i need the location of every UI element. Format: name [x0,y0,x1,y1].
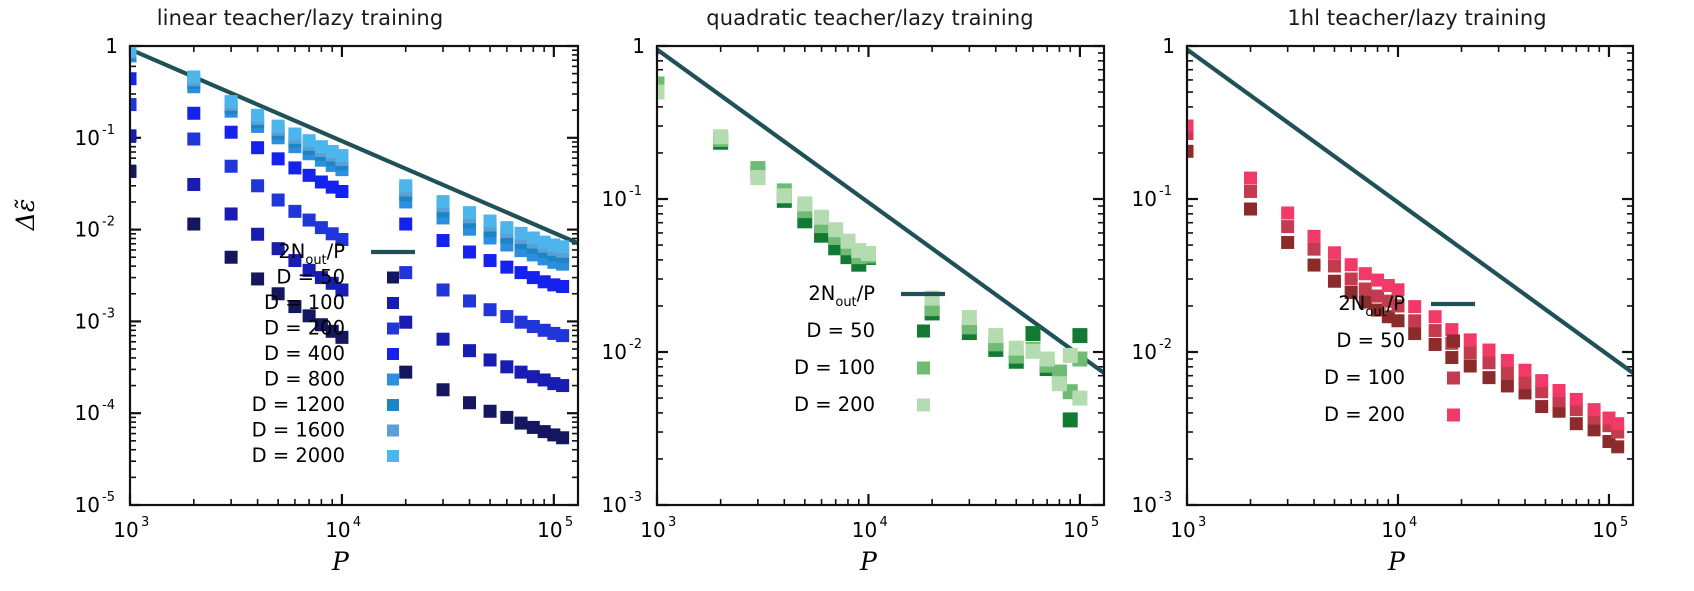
data-point [1588,403,1601,416]
plot-frame [657,46,1104,505]
legend-label: D = 50 [276,266,345,289]
data-point [187,133,200,146]
legend-label: D = 200 [1324,403,1405,426]
svg-text:-5: -5 [102,490,115,505]
data-point [1359,267,1372,280]
svg-text:10: 10 [75,493,100,517]
data-point [437,333,450,346]
legend-swatch [917,325,930,338]
data-point [251,109,264,122]
x-tick-label: 105 [1592,515,1628,542]
data-point [1429,324,1442,337]
data-point [251,141,264,154]
data-point [288,161,301,174]
data-point [463,344,476,357]
x-tick-label: 103 [113,515,149,542]
data-point [1482,371,1495,384]
svg-text:-2: -2 [102,215,115,230]
data-point [437,383,450,396]
svg-text:10: 10 [1132,187,1157,211]
data-point [1308,243,1321,256]
legend-swatch [387,374,399,386]
data-point [225,251,238,264]
data-point [1588,423,1601,436]
svg-text:3: 3 [668,515,676,530]
svg-text:10: 10 [602,187,627,211]
legend-swatch [1447,335,1460,348]
svg-text:10: 10 [113,518,138,542]
data-point [303,214,316,227]
legend-label: D = 400 [264,342,345,365]
data-point [556,379,569,392]
x-axis-label: P [860,547,877,576]
data-point [1025,344,1040,359]
y-tick-label: 10-1 [602,184,642,211]
legend-label: D = 50 [806,319,875,342]
data-point [1063,412,1078,427]
data-point [1501,354,1514,367]
data-point [515,316,528,329]
svg-text:10: 10 [1592,518,1617,542]
data-point [1244,185,1257,198]
data-point [1482,356,1495,369]
data-point [484,353,497,366]
data-point [1501,366,1514,379]
data-point [399,366,412,379]
data-point [1009,341,1024,356]
svg-text:-2: -2 [1159,337,1172,352]
x-axis-label: P [332,547,349,576]
data-point [1072,391,1087,406]
svg-text:-3: -3 [629,490,642,505]
data-point [962,310,977,325]
data-point [515,366,528,379]
y-tick-label: 1 [632,34,645,58]
svg-text:10: 10 [602,493,627,517]
legend-swatch [387,272,399,284]
y-tick-label: 10-2 [602,337,642,364]
data-point [335,149,348,162]
data-point [1345,258,1358,271]
data-point [1519,376,1532,389]
svg-text:5: 5 [1620,515,1628,530]
svg-text:10: 10 [75,218,100,242]
data-point [484,303,497,316]
svg-text:-3: -3 [102,306,115,321]
data-point [251,272,264,285]
data-point [463,294,476,307]
data-point [814,210,829,225]
svg-text:-1: -1 [102,123,115,138]
legend-swatch [387,323,399,335]
data-point [225,207,238,220]
data-point [288,205,301,218]
data-point [1281,220,1294,233]
data-point [288,128,301,141]
y-tick-label: 10-3 [602,490,642,517]
legend-label: D = 800 [264,368,345,391]
data-point [861,246,876,261]
data-point [272,152,285,165]
legend-label: D = 1600 [252,419,345,442]
data-point [463,396,476,409]
svg-text:10: 10 [640,518,665,542]
data-point [225,126,238,139]
data-point [515,266,528,279]
data-point [1519,364,1532,377]
data-point [777,188,792,203]
data-point [437,283,450,296]
data-point [556,329,569,342]
data-point [187,70,200,83]
data-point [437,234,450,247]
y-tick-label: 1 [1162,34,1175,58]
svg-text:5: 5 [565,515,573,530]
data-point [463,246,476,259]
svg-text:-2: -2 [629,337,642,352]
x-tick-label: 105 [1063,515,1099,542]
data-point [1464,346,1477,359]
data-point [1040,352,1055,367]
panel-plot-0: 110-110-210-310-410-51031041052Nout/PD =… [75,34,578,542]
data-point [399,218,412,231]
y-tick-label: 10-3 [1132,490,1172,517]
data-point [1281,207,1294,220]
data-point [1429,310,1442,323]
panel-plot-1: 110-110-210-31031041052Nout/PD = 50D = 1… [602,34,1104,542]
x-tick-label: 104 [1381,515,1417,542]
data-point [1391,314,1404,327]
legend-swatch [387,450,399,462]
x-axis-label: P [1388,547,1405,576]
data-point [1535,400,1548,413]
data-point [1281,236,1294,249]
data-point [515,227,528,240]
data-point [1464,360,1477,373]
svg-text:10: 10 [75,126,100,150]
svg-text:10: 10 [75,401,100,425]
data-point [1328,275,1341,288]
data-point [225,95,238,108]
svg-text:10: 10 [1381,518,1406,542]
data-point [272,120,285,133]
data-point [500,221,513,234]
svg-text:10: 10 [537,518,562,542]
data-point [1570,417,1583,430]
panel-plot-2: 110-110-210-31031041052Nout/PD = 50D = 1… [1132,34,1633,542]
data-point [515,417,528,430]
svg-text:10: 10 [1132,493,1157,517]
data-point [187,218,200,231]
data-point [1482,344,1495,357]
svg-text:10: 10 [325,518,350,542]
data-point [1429,338,1442,351]
data-point [225,160,238,173]
data-point [556,431,569,444]
svg-text:4: 4 [353,515,361,530]
data-point [272,194,285,207]
data-point [437,195,450,208]
svg-text:3: 3 [1198,515,1206,530]
svg-text:10: 10 [75,309,100,333]
legend-label: D = 100 [1324,366,1405,389]
svg-text:10: 10 [1170,518,1195,542]
data-point [1501,379,1514,392]
data-point [399,266,412,279]
y-tick-label: 10-1 [75,123,115,150]
legend-swatch [387,399,399,411]
data-point [1570,393,1583,406]
data-point [187,178,200,191]
data-point [463,206,476,219]
data-point [251,228,264,241]
data-point [335,185,348,198]
legend-label: D = 100 [794,356,875,379]
svg-text:5: 5 [1091,515,1099,530]
legend-swatch [917,399,930,412]
data-point [1345,273,1358,286]
data-point [1244,203,1257,216]
plot-canvas: 110-110-210-310-410-51031041052Nout/PD =… [0,0,1694,591]
data-point [1308,230,1321,243]
x-tick-label: 105 [537,515,573,542]
data-point [303,169,316,182]
legend-swatch [1447,372,1460,385]
legend-label: D = 2000 [252,444,345,467]
data-point [1464,333,1477,346]
data-point [1535,385,1548,398]
legend-swatch [387,425,399,437]
y-tick-label: 1 [105,34,118,58]
data-point [1244,172,1257,185]
data-point [1072,328,1087,343]
y-tick-label: 10-2 [1132,337,1172,364]
plot-frame [1187,46,1633,505]
data-point [1328,259,1341,272]
svg-text:4: 4 [879,515,887,530]
data-point [1445,323,1458,336]
legend-swatch [387,348,399,360]
legend-label: D = 200 [264,317,345,340]
data-point [251,179,264,192]
data-point [1408,314,1421,327]
data-point [1063,348,1078,363]
x-tick-label: 103 [640,515,676,542]
data-point [556,240,569,253]
x-tick-label: 104 [852,515,888,542]
data-point [1445,351,1458,364]
data-point [399,179,412,192]
data-point [484,254,497,267]
data-point [750,170,765,185]
data-point [1408,327,1421,340]
data-point [1553,384,1566,397]
legend-swatch [1447,409,1460,422]
data-point [1611,417,1624,430]
data-point [713,129,728,144]
data-point [1611,440,1624,453]
data-point [484,405,497,418]
legend-label: D = 200 [794,393,875,416]
data-point [500,261,513,274]
y-tick-label: 10-1 [1132,184,1172,211]
data-point [484,215,497,228]
data-point [187,107,200,120]
data-point [500,310,513,323]
data-point [1025,326,1040,341]
data-point [1052,376,1067,391]
svg-text:4: 4 [1409,515,1417,530]
y-tick-label: 10-3 [75,306,115,333]
svg-text:10: 10 [1063,518,1088,542]
legend-swatch [387,297,399,309]
svg-text:-3: -3 [1159,490,1172,505]
data-point [399,316,412,329]
svg-text:10: 10 [602,340,627,364]
legend-swatch [917,362,930,375]
svg-text:-4: -4 [102,398,115,413]
data-point [797,196,812,211]
data-point [1408,300,1421,313]
figure-root: linear teacher/lazy training Δε̃ quadrat… [0,0,1694,591]
y-tick-label: 10-4 [75,398,115,425]
legend-label: D = 1200 [252,393,345,416]
svg-text:3: 3 [141,515,149,530]
svg-text:10: 10 [1132,340,1157,364]
legend-label: D = 100 [264,291,345,314]
data-point [500,360,513,373]
data-point [1535,374,1548,387]
x-tick-label: 104 [325,515,361,542]
data-point [500,411,513,424]
svg-text:-1: -1 [1159,184,1172,199]
data-point [1308,259,1321,272]
data-point [303,134,316,147]
data-point [988,328,1003,343]
svg-text:-1: -1 [629,184,642,199]
legend: 2Nout/PD = 50D = 100D = 200D = 400D = 80… [252,240,415,467]
data-point [556,280,569,293]
x-tick-label: 103 [1170,515,1206,542]
svg-text:10: 10 [852,518,877,542]
y-tick-label: 10-5 [75,490,115,517]
y-tick-label: 10-2 [75,215,115,242]
data-point [1328,246,1341,259]
legend-label: D = 50 [1336,329,1405,352]
